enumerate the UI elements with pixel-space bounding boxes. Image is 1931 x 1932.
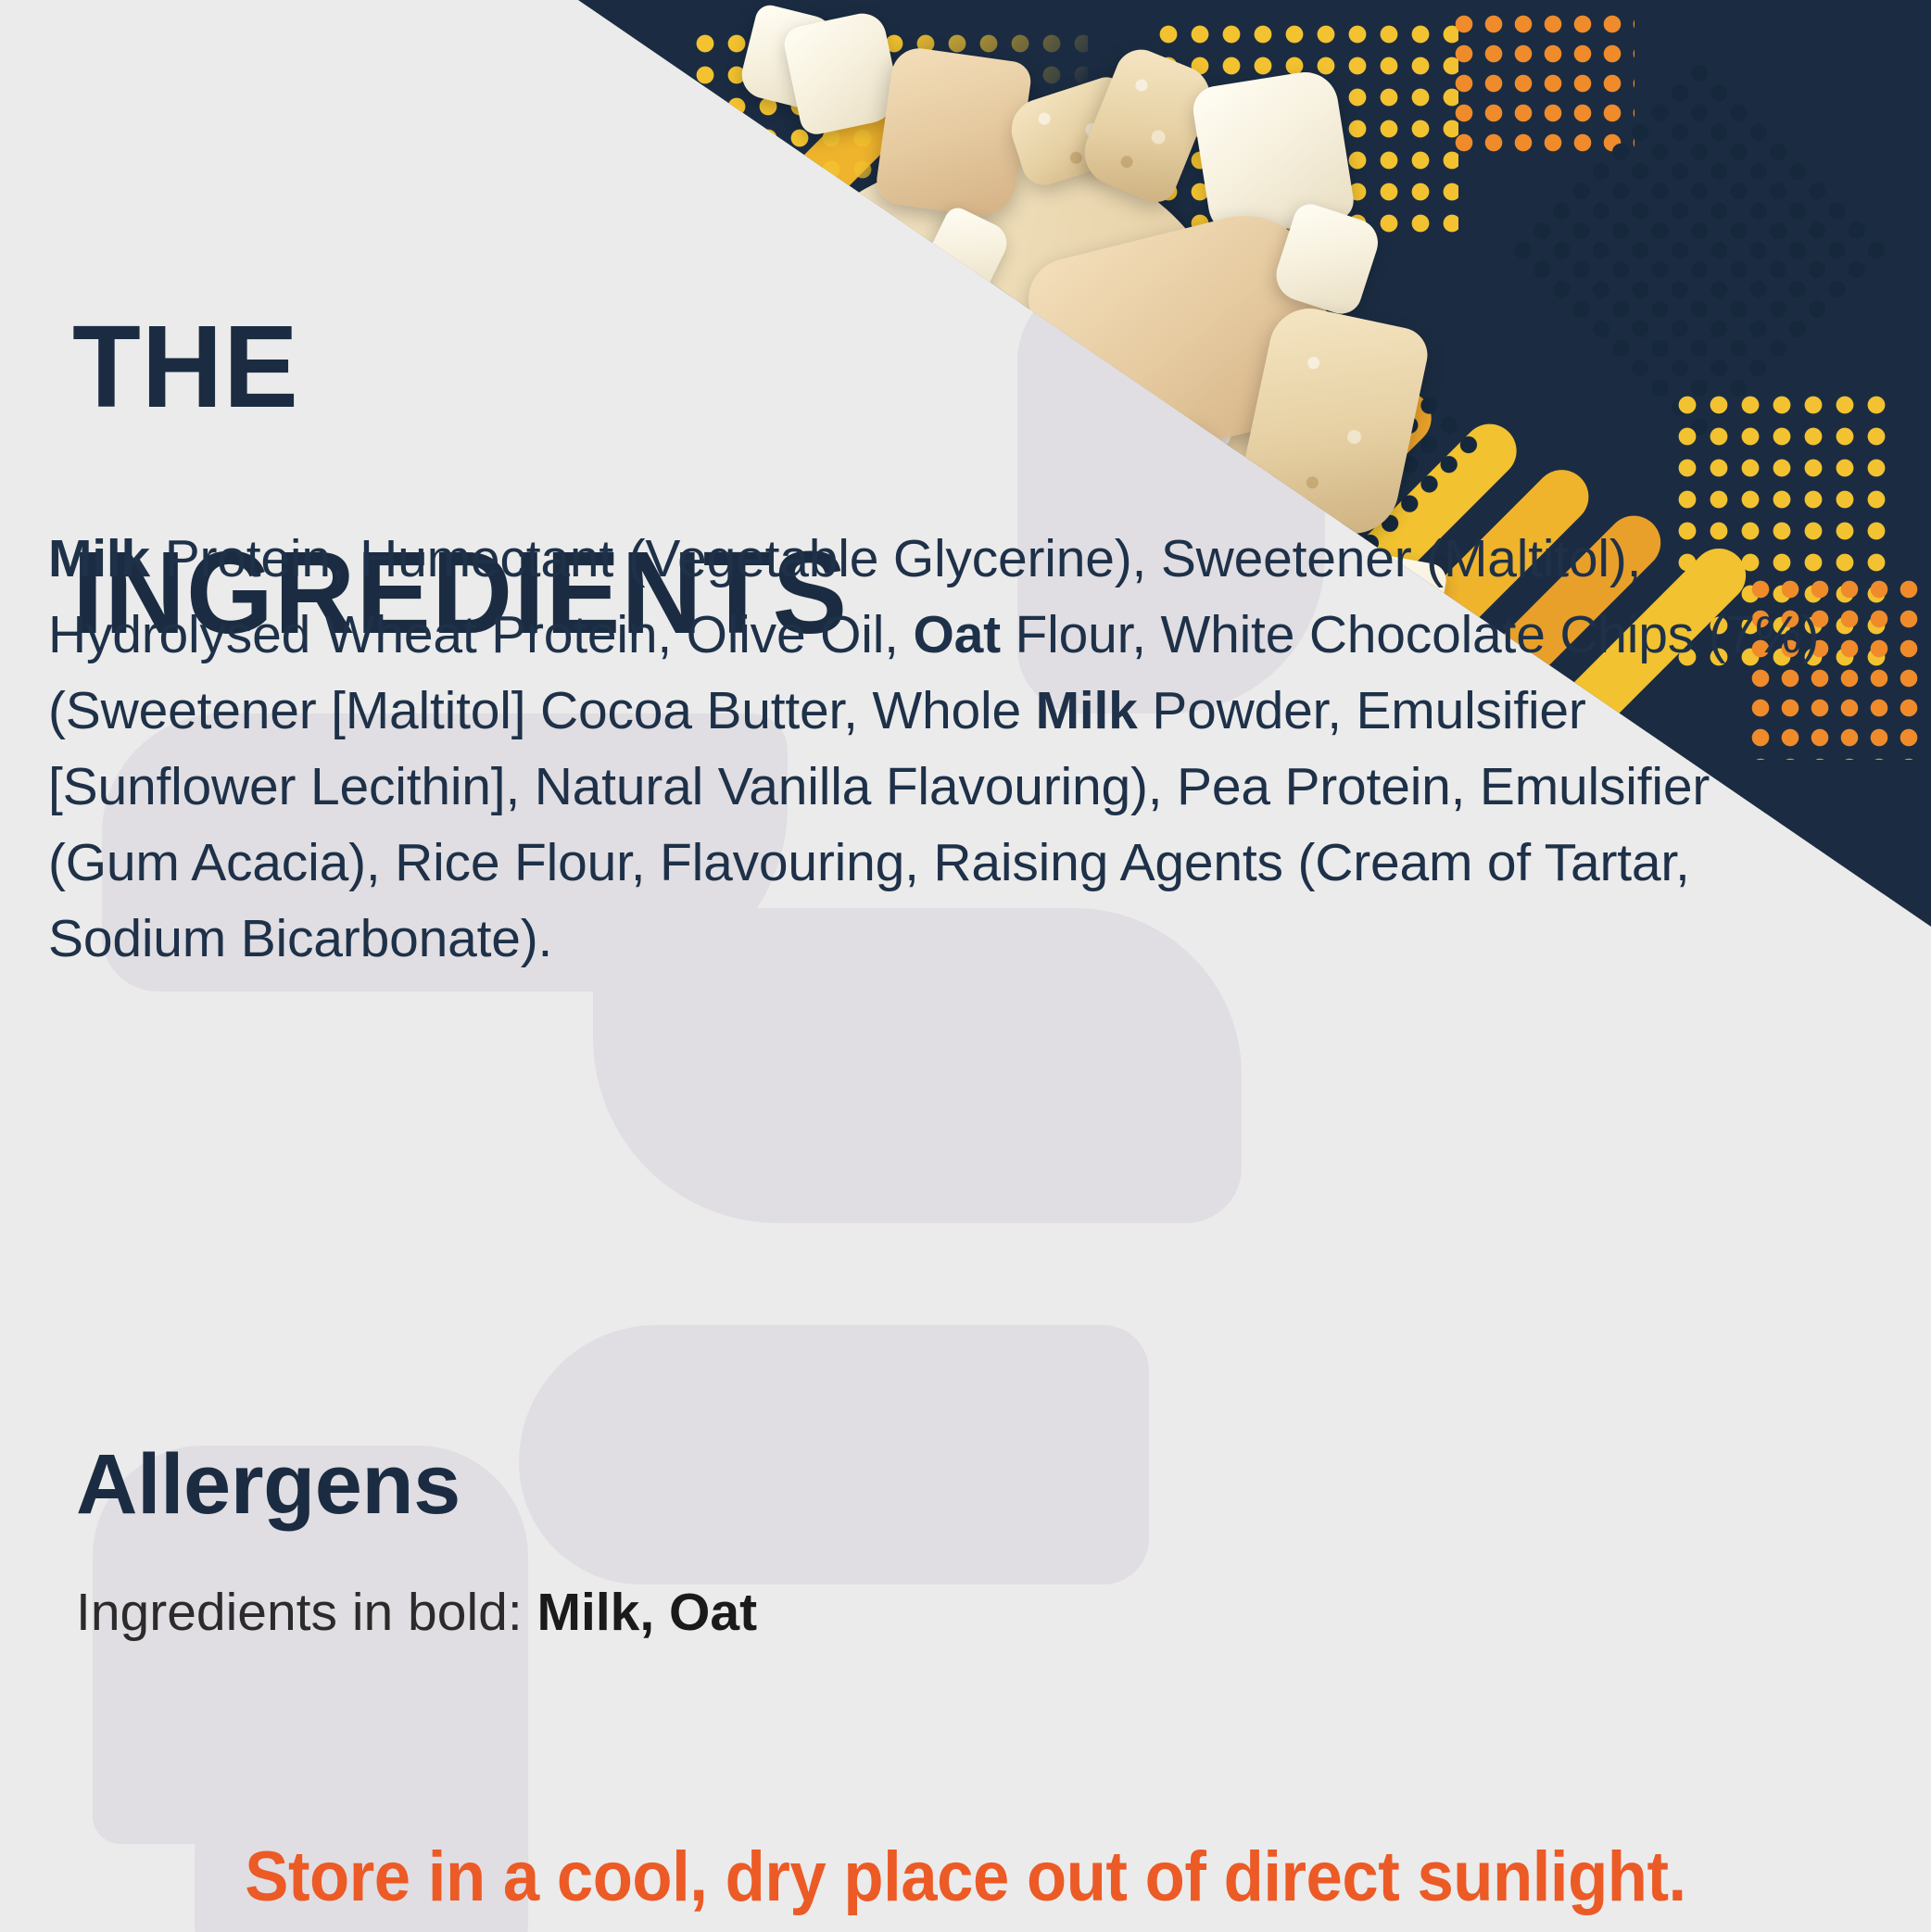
- allergens-statement: Ingredients in bold: Milk, Oat: [76, 1578, 757, 1647]
- allergens-heading: Allergens: [76, 1442, 461, 1527]
- ingredients-list: Milk Protein, Humectant (Vegetable Glyce…: [48, 521, 1836, 977]
- ingredient-allergen-bold: Milk: [48, 529, 150, 588]
- ingredient-allergen-bold: Milk: [1036, 681, 1138, 740]
- ingredients-label-card: THE INGREDIENTS Milk Protein, Humectant …: [0, 0, 1931, 1932]
- white-chocolate-chunk: [874, 269, 956, 353]
- page-title-line-1: THE: [72, 310, 848, 423]
- orange-dot-pattern: [1449, 9, 1634, 158]
- storage-notice: Store in a cool, dry place out of direct…: [68, 1838, 1863, 1916]
- ingredient-allergen-bold: Oat: [913, 605, 1000, 664]
- fudge-chunk: [874, 44, 1033, 220]
- allergens-bold-list: Milk, Oat: [537, 1583, 758, 1642]
- watermark-shape: [519, 1325, 1149, 1585]
- allergens-prefix: Ingredients in bold:: [76, 1583, 537, 1642]
